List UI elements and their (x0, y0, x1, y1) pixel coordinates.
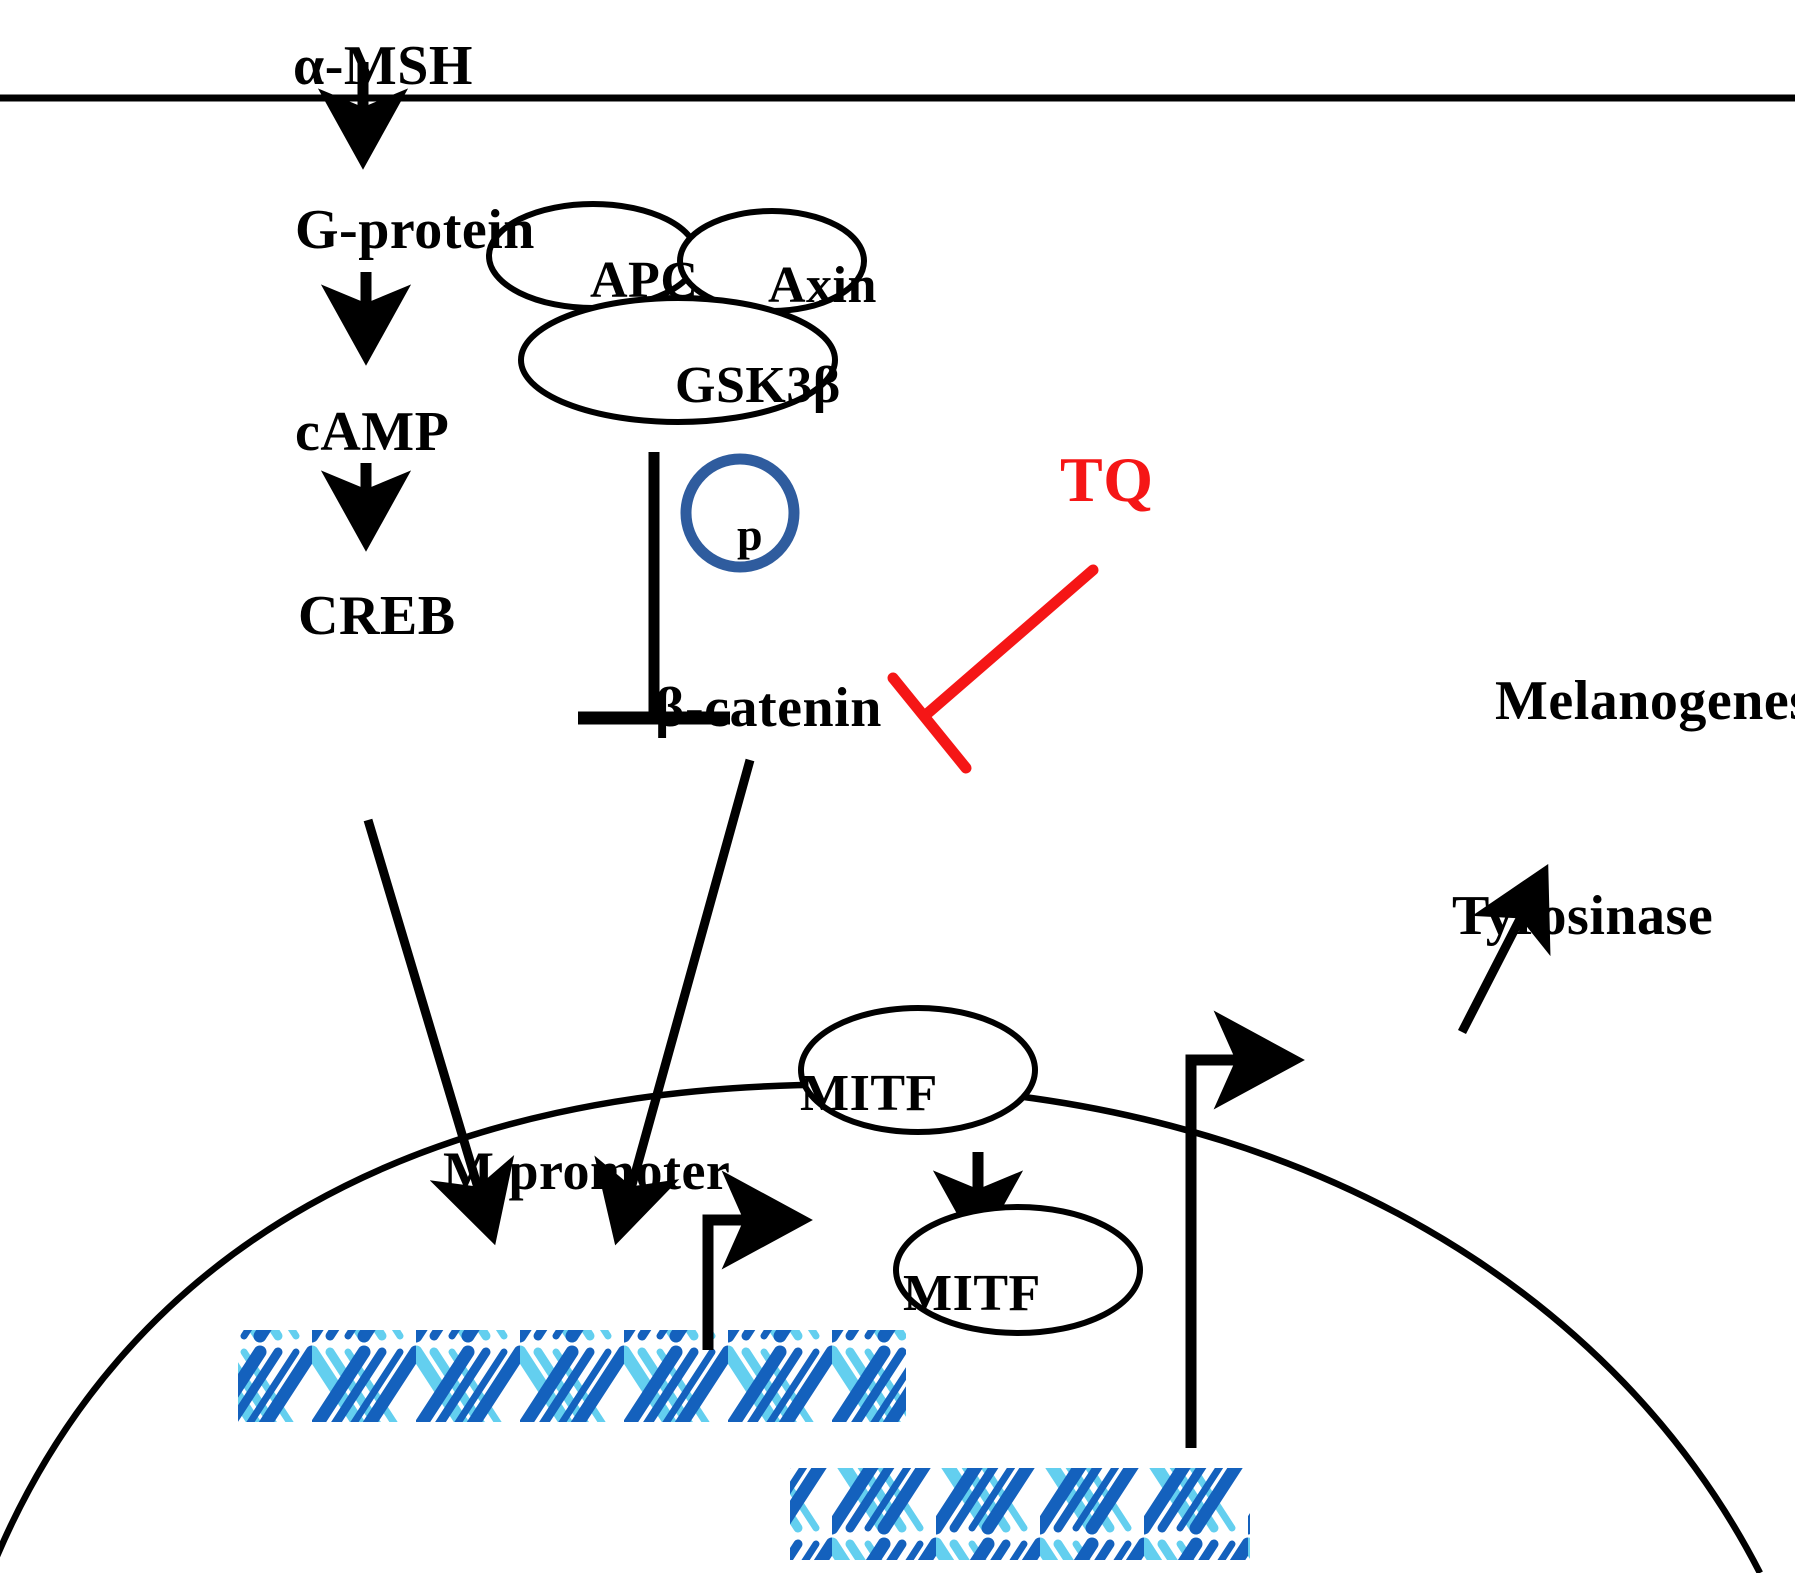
node-label-mitf-dna-bound: MITF (903, 1268, 1041, 1320)
node-label-beta-catenin: β-catenin (655, 680, 882, 736)
node-label-phospho: p (737, 512, 763, 558)
node-label-m-promoter: M promoter (443, 1144, 730, 1198)
node-label-melanogenesis: Melanogenesis (1495, 673, 1795, 729)
node-label-creb: CREB (298, 588, 456, 644)
dna-upper-strand (238, 1330, 906, 1422)
edge-mitf-to-tyrosinase (1191, 1060, 1284, 1448)
pathway-diagram: α-MSH G-protein cAMP CREB APC Axin GSK3β… (0, 0, 1795, 1573)
node-label-g-protein: G-protein (295, 202, 535, 258)
node-label-gsk3b: GSK3β (675, 360, 841, 412)
node-label-alpha-msh: α-MSH (293, 38, 473, 94)
node-label-axin: Axin (768, 260, 877, 312)
node-label-mitf-nuclear: MITF (800, 1068, 938, 1120)
dna-lower-strand (790, 1468, 1250, 1560)
diagram-canvas (0, 0, 1795, 1573)
node-label-tyrosinase: Tyrosinase (1452, 888, 1713, 944)
node-label-apc: APC (590, 255, 698, 307)
edge-tq-inhibits-bcatenin (893, 570, 1093, 768)
node-label-camp: cAMP (295, 404, 449, 460)
node-label-tq: TQ (1060, 448, 1153, 512)
